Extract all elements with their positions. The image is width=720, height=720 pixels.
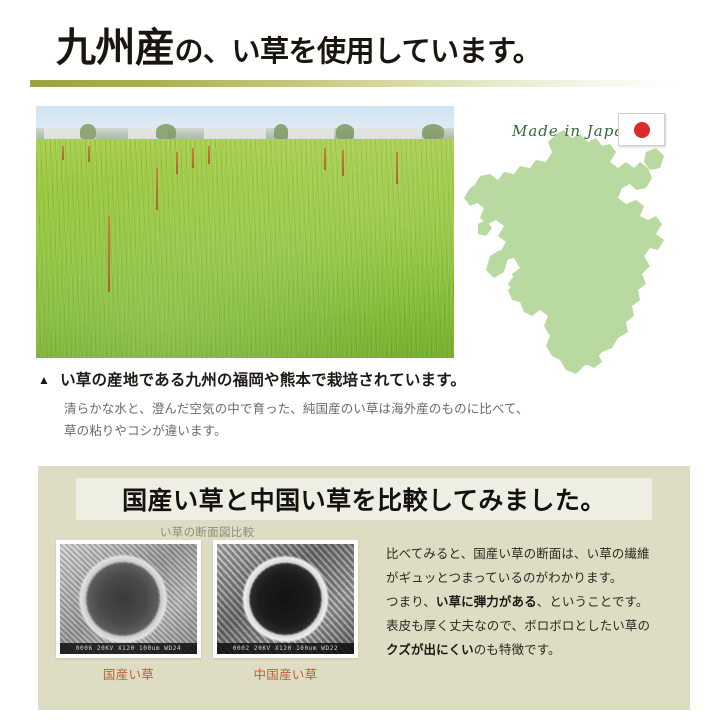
- photo-field-stake: [192, 148, 194, 168]
- kyushu-map-icon: [460, 128, 700, 378]
- page-title: 九州産の、い草を使用しています。: [56, 28, 541, 68]
- photo-field-stake: [62, 146, 64, 160]
- chinese-sem-scalebar-text: 0002 20KV X120 100um WD22: [217, 643, 354, 654]
- photo-field-stake: [156, 168, 158, 210]
- body-line-3: つまり、い草に弾力がある、ということです。: [386, 590, 678, 614]
- cross-section-sublabel: い草の断面図比較: [160, 524, 254, 540]
- photo-caption-sub-line1: 清らかな水と、澄んだ空気の中で育った、純国産のい草は海外産のものに比べて、: [64, 399, 658, 421]
- domestic-sem-scalebar-text: 0006 20KV X120 100um WD24: [60, 643, 197, 654]
- japan-flag-icon: [618, 113, 665, 146]
- photo-caption-headline-text: い草の産地である九州の福岡や熊本で栽培されています。: [60, 368, 466, 390]
- title-gradient-rule: [30, 80, 680, 87]
- photo-tree: [80, 124, 96, 139]
- photo-building: [354, 128, 424, 139]
- photo-caption-sub-line2: 草の粘りやコシが違います。: [64, 421, 658, 443]
- made-in-japan-label: Made in Japan: [512, 122, 635, 140]
- photo-field-stake: [396, 152, 398, 184]
- photo-field-stake: [108, 216, 110, 292]
- photo-tree: [422, 124, 444, 139]
- photo-tree: [156, 124, 176, 139]
- photo-caption-sub: 清らかな水と、澄んだ空気の中で育った、純国産のい草は海外産のものに比べて、 草の…: [64, 399, 658, 442]
- photo-building: [204, 128, 266, 139]
- chinese-image-caption: 中国産い草: [213, 664, 358, 683]
- body-line-5-bold: クズが出にくい: [386, 643, 474, 657]
- comparison-title-band: 国産い草と中国い草を比較してみました。: [76, 478, 652, 520]
- photo-caption-block: ▲ い草の産地である九州の福岡や熊本で栽培されています。 清らかな水と、澄んだ空…: [38, 368, 658, 442]
- comparison-panel: 国産い草と中国い草を比較してみました。 い草の断面図比較 0006 20KV X…: [38, 466, 690, 710]
- product-description-page: 九州産の、い草を使用しています。: [0, 0, 720, 720]
- comparison-panel-title: 国産い草と中国い草を比較してみました。: [76, 481, 652, 517]
- chinese-sem-image: 0002 20KV X120 100um WD22: [217, 544, 354, 654]
- photo-tree: [274, 124, 288, 139]
- photo-building: [288, 128, 334, 139]
- page-title-rest: の、い草を使用しています。: [175, 36, 542, 68]
- body-line-3-post: 、ということです。: [537, 595, 649, 609]
- photo-field-stake: [324, 148, 326, 170]
- photo-field-stake: [208, 146, 210, 164]
- domestic-image-caption: 国産い草: [56, 664, 201, 683]
- body-line-2: がギュッとつまっているのがわかります。: [386, 566, 678, 590]
- body-line-4: 表皮も厚く丈夫なので、ボロボロとしたい草の: [386, 614, 678, 638]
- triangle-marker-icon: ▲: [38, 374, 50, 386]
- domestic-sem-image: 0006 20KV X120 100um WD24: [60, 544, 197, 654]
- photo-field-stake: [176, 152, 178, 174]
- photo-igusa-grass: [36, 139, 454, 358]
- photo-field-stake: [88, 146, 90, 162]
- photo-field-stake: [342, 150, 344, 176]
- flag-red-disc: [634, 122, 650, 138]
- body-line-1: 比べてみると、国産い草の断面は、い草の繊維: [386, 542, 678, 566]
- chinese-igusa-cross-section: 0002 20KV X120 100um WD22: [213, 540, 358, 658]
- photo-caption-headline: ▲ い草の産地である九州の福岡や熊本で栽培されています。: [38, 368, 658, 390]
- body-line-5-post: のも特徴です。: [474, 643, 561, 657]
- body-line-5: クズが出にくいのも特徴です。: [386, 638, 678, 662]
- page-title-strong: 九州産: [56, 25, 175, 70]
- body-line-3-bold: い草に弾力がある: [436, 595, 537, 609]
- comparison-body-text: 比べてみると、国産い草の断面は、い草の繊維 がギュッとつまっているのがわかります…: [386, 542, 678, 662]
- igusa-field-photo: [36, 106, 454, 358]
- photo-tree: [336, 124, 354, 139]
- body-line-3-pre: つまり、: [386, 595, 436, 609]
- domestic-igusa-cross-section: 0006 20KV X120 100um WD24: [56, 540, 201, 658]
